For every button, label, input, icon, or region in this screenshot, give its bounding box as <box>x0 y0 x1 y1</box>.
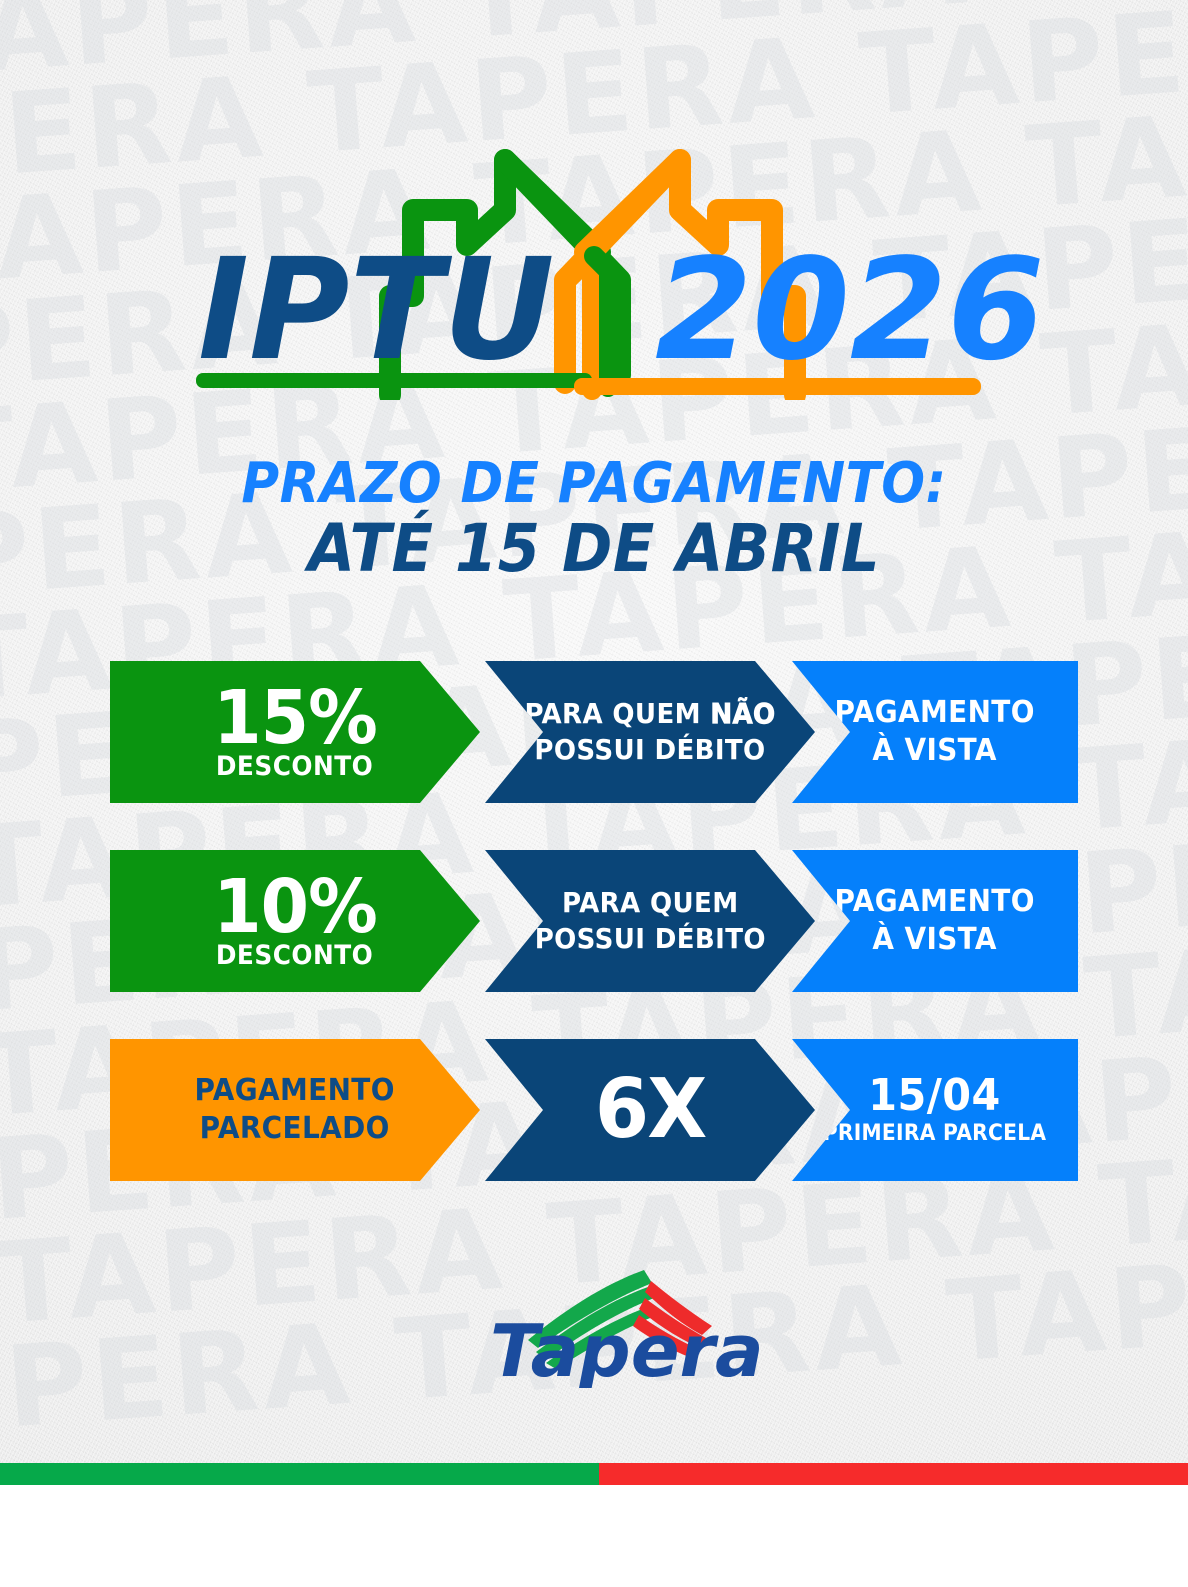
logo-text-year: 2026 <box>655 229 1045 392</box>
row-2-condition-line1: PARA QUEM <box>562 886 738 919</box>
row-1-condition-line1-strong: NÃO <box>710 697 775 730</box>
row-2-condition-text: PARA QUEM POSSUI DÉBITO <box>534 885 765 957</box>
iptu-logo: IPTU 2026 <box>0 100 1188 400</box>
row-1-payment-line2: À VISTA <box>873 733 997 768</box>
row-3-times-chevron[interactable]: 6X <box>485 1039 815 1181</box>
iptu-logo-svg: IPTU 2026 <box>0 100 1188 400</box>
row-1-payment-line1: PAGAMENTO <box>835 695 1035 730</box>
headline-block: PRAZO DE PAGAMENTO: ATÉ 15 DE ABRIL <box>0 455 1188 584</box>
bottom-bar-red <box>599 1463 1188 1485</box>
row-3-firstpayment-date: 15/04 <box>869 1074 1002 1118</box>
row-2-discount-chevron[interactable]: 10% DESCONTO <box>110 850 480 992</box>
tapera-logo: Tapera <box>0 1248 1188 1388</box>
bottom-bar-green <box>0 1463 599 1485</box>
row-3-installment-chevron[interactable]: PAGAMENTO PARCELADO <box>110 1039 480 1181</box>
row-2-payment-line1: PAGAMENTO <box>835 884 1035 919</box>
row-3-firstpayment-label: PRIMEIRA PARCELA <box>823 1121 1047 1146</box>
headline-line-1: PRAZO DE PAGAMENTO: <box>48 455 1141 512</box>
row-2-payment-line2: À VISTA <box>873 922 997 957</box>
row-1-payment-text: PAGAMENTO À VISTA <box>835 694 1035 770</box>
row-3-installment-line2: PARCELADO <box>200 1111 390 1146</box>
row-1-discount-chevron[interactable]: 15% DESCONTO <box>110 661 480 803</box>
tapera-logo-svg: Tapera <box>0 1248 1188 1388</box>
row-3-firstpayment-block[interactable]: 15/04 PRIMEIRA PARCELA <box>792 1039 1078 1181</box>
row-1-condition-line2: POSSUI DÉBITO <box>534 733 765 766</box>
discount-row: 10% DESCONTO PARA QUEM POSSUI DÉBITO PAG… <box>110 850 1078 992</box>
headline-line-2: ATÉ 15 DE ABRIL <box>48 514 1141 584</box>
row-1-discount-value: 15% <box>213 683 377 753</box>
row-2-condition-line2: POSSUI DÉBITO <box>534 922 765 955</box>
row-3-installment-line1: PAGAMENTO <box>195 1073 395 1108</box>
discount-rows: 15% DESCONTO PARA QUEM NÃO POSSUI DÉBITO… <box>110 661 1078 1181</box>
row-2-discount-value: 10% <box>213 872 377 942</box>
row-3-times-value: 6X <box>595 1071 705 1149</box>
row-2-payment-text: PAGAMENTO À VISTA <box>835 883 1035 959</box>
row-2-payment-block[interactable]: PAGAMENTO À VISTA <box>792 850 1078 992</box>
logo-text-iptu: IPTU <box>198 228 555 392</box>
row-1-discount-label: DESCONTO <box>216 753 373 781</box>
bottom-color-bar <box>0 1463 1188 1485</box>
row-1-condition-chevron[interactable]: PARA QUEM NÃO POSSUI DÉBITO <box>485 661 815 803</box>
row-1-condition-line1-pre: PARA QUEM <box>524 697 710 730</box>
row-2-condition-chevron[interactable]: PARA QUEM POSSUI DÉBITO <box>485 850 815 992</box>
row-3-installment-text: PAGAMENTO PARCELADO <box>195 1072 395 1148</box>
tapera-wordmark: Tapera <box>490 1309 764 1388</box>
discount-row: 15% DESCONTO PARA QUEM NÃO POSSUI DÉBITO… <box>110 661 1078 803</box>
row-1-condition-text: PARA QUEM NÃO POSSUI DÉBITO <box>524 696 775 768</box>
row-1-payment-block[interactable]: PAGAMENTO À VISTA <box>792 661 1078 803</box>
row-2-discount-label: DESCONTO <box>216 942 373 970</box>
installment-row: PAGAMENTO PARCELADO 6X 15/04 PRIMEIRA PA… <box>110 1039 1078 1181</box>
